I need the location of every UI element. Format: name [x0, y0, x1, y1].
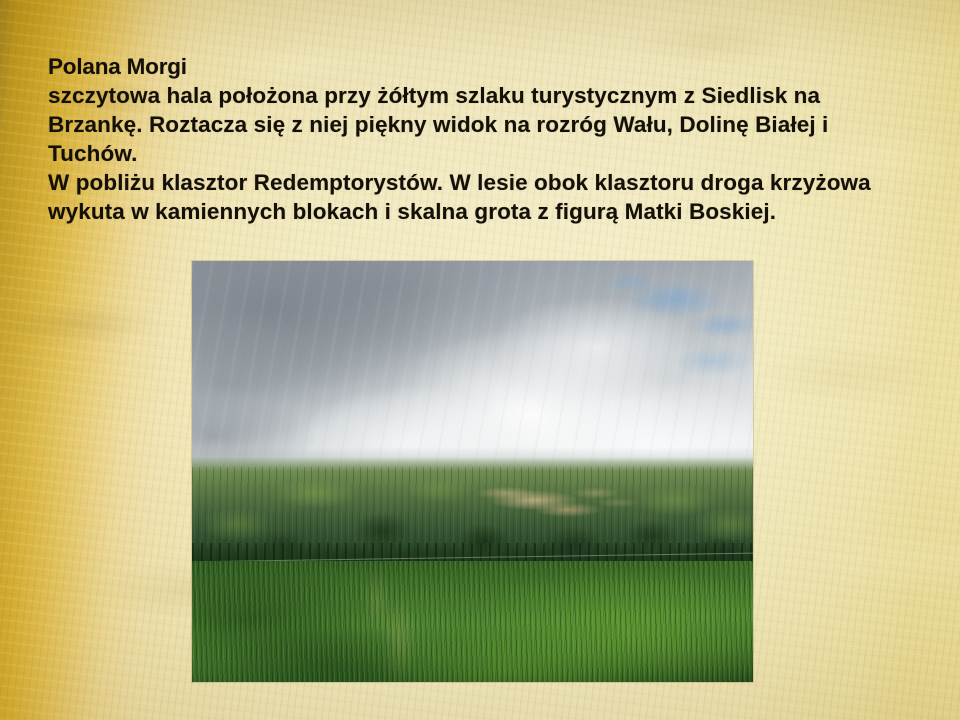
slide-body-line-2: Brzankę. Roztacza się z niej piękny wido…: [48, 110, 932, 139]
slide-body-line-5: wykuta w kamiennych blokach i skalna gro…: [48, 197, 932, 226]
slide-body-line-4: W pobliżu klasztor Redemptorystów. W les…: [48, 168, 932, 197]
slide-title: Polana Morgi: [48, 52, 932, 81]
slide-text-block: Polana Morgi szczytowa hala położona prz…: [48, 52, 932, 226]
presentation-slide: Polana Morgi szczytowa hala położona prz…: [0, 0, 960, 720]
slide-body-line-3: Tuchów.: [48, 139, 932, 168]
photo-sky-streaks: [192, 261, 753, 475]
photo-grass-texture: [192, 561, 753, 682]
slide-body-line-1: szczytowa hala położona przy żółtym szla…: [48, 81, 932, 110]
landscape-photo: [192, 261, 753, 682]
